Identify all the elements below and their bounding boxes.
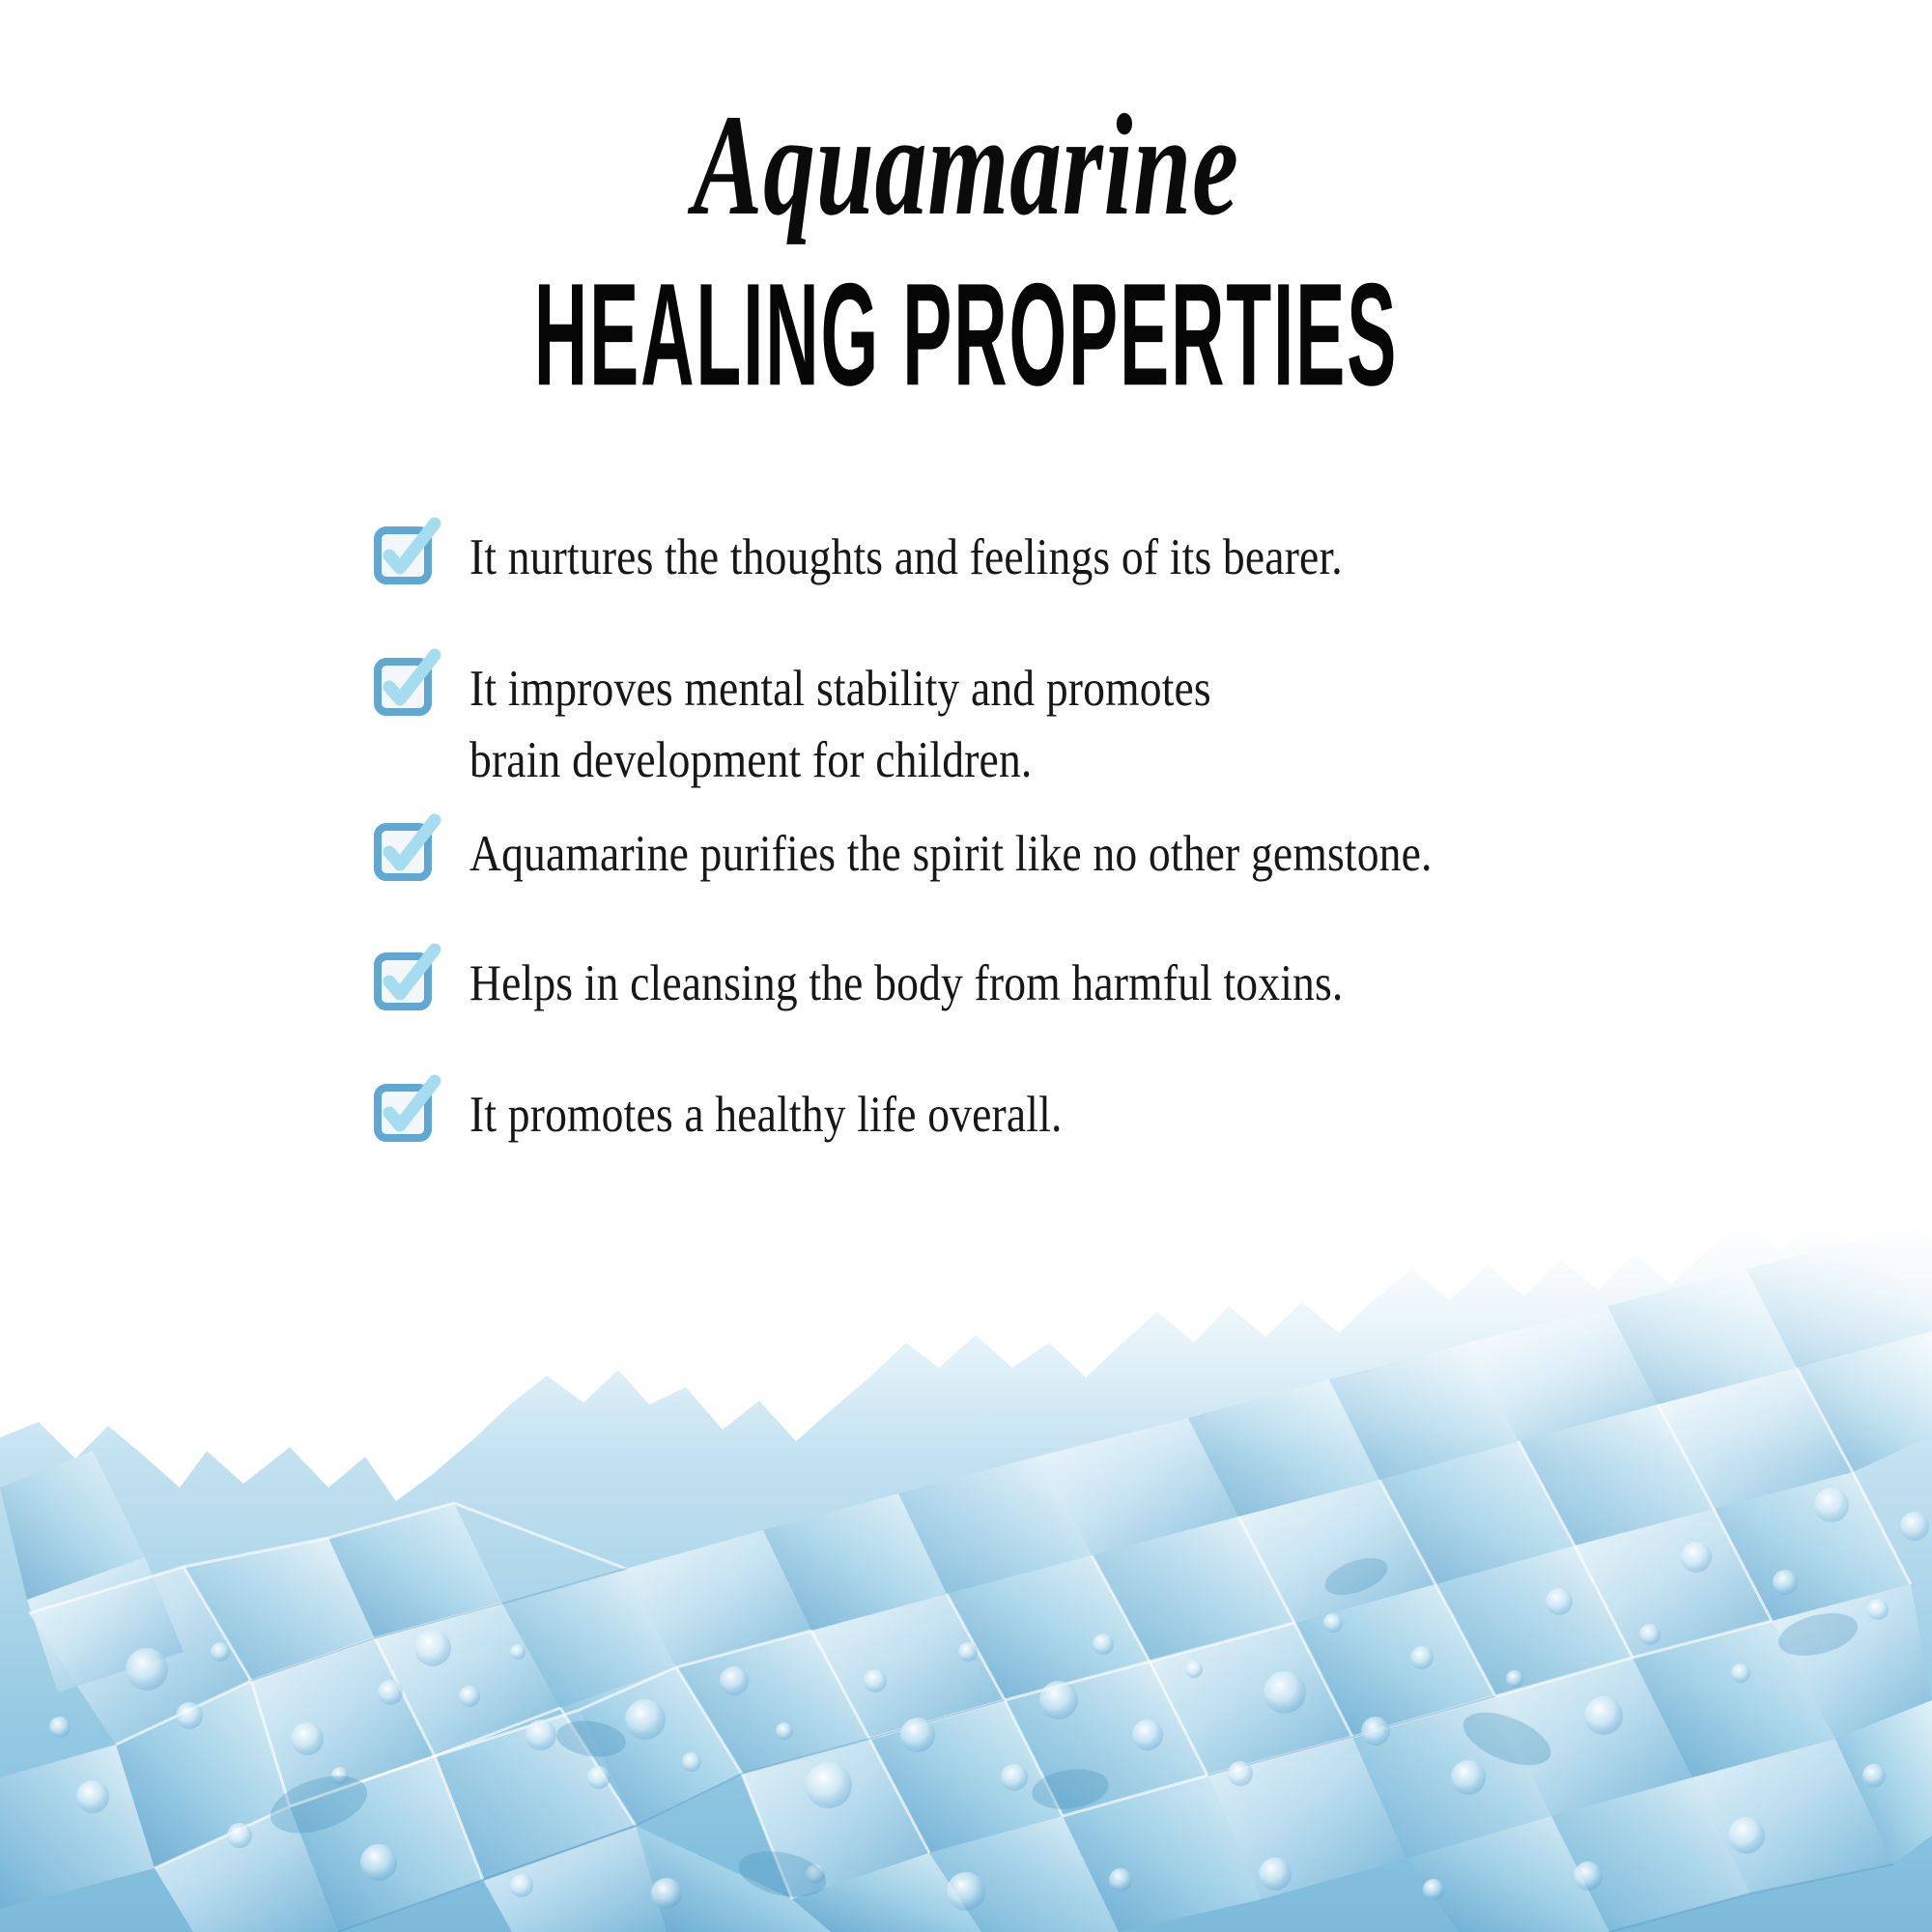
- checked-checkbox-icon[interactable]: [375, 527, 431, 583]
- list-item-label: It improves mental stability and promote…: [469, 653, 1211, 796]
- list-item-label: It promotes a healthy life overall.: [469, 1079, 1063, 1151]
- checked-checkbox-icon[interactable]: [375, 953, 431, 1009]
- list-item[interactable]: Aquamarine purifies the spirit like no o…: [375, 818, 1824, 890]
- list-item[interactable]: Helps in cleansing the body from harmful…: [375, 948, 1824, 1019]
- list-item[interactable]: It improves mental stability and promote…: [375, 653, 1824, 796]
- checked-checkbox-icon[interactable]: [375, 1085, 431, 1141]
- list-item[interactable]: It promotes a healthy life overall.: [375, 1079, 1824, 1151]
- list-item[interactable]: It nurtures the thoughts and feelings of…: [375, 522, 1824, 593]
- ice-cubes-photo: [0, 1198, 1932, 1932]
- poster-header: Aquamarine HEALING PROPERTIES: [0, 0, 1932, 386]
- checked-checkbox-icon[interactable]: [375, 659, 431, 715]
- list-item-label: Helps in cleansing the body from harmful…: [469, 948, 1344, 1019]
- list-item-label: It nurtures the thoughts and feelings of…: [469, 522, 1343, 593]
- list-item-label: Aquamarine purifies the spirit like no o…: [469, 818, 1433, 890]
- page-title-script: Aquamarine: [270, 93, 1662, 238]
- healing-properties-checklist: It nurtures the thoughts and feelings of…: [375, 522, 1824, 1151]
- checked-checkbox-icon[interactable]: [375, 824, 431, 880]
- page-subtitle-block: HEALING PROPERTIES: [386, 263, 1546, 409]
- aquamarine-healing-properties-poster: Aquamarine HEALING PROPERTIES It nurture…: [0, 0, 1932, 1932]
